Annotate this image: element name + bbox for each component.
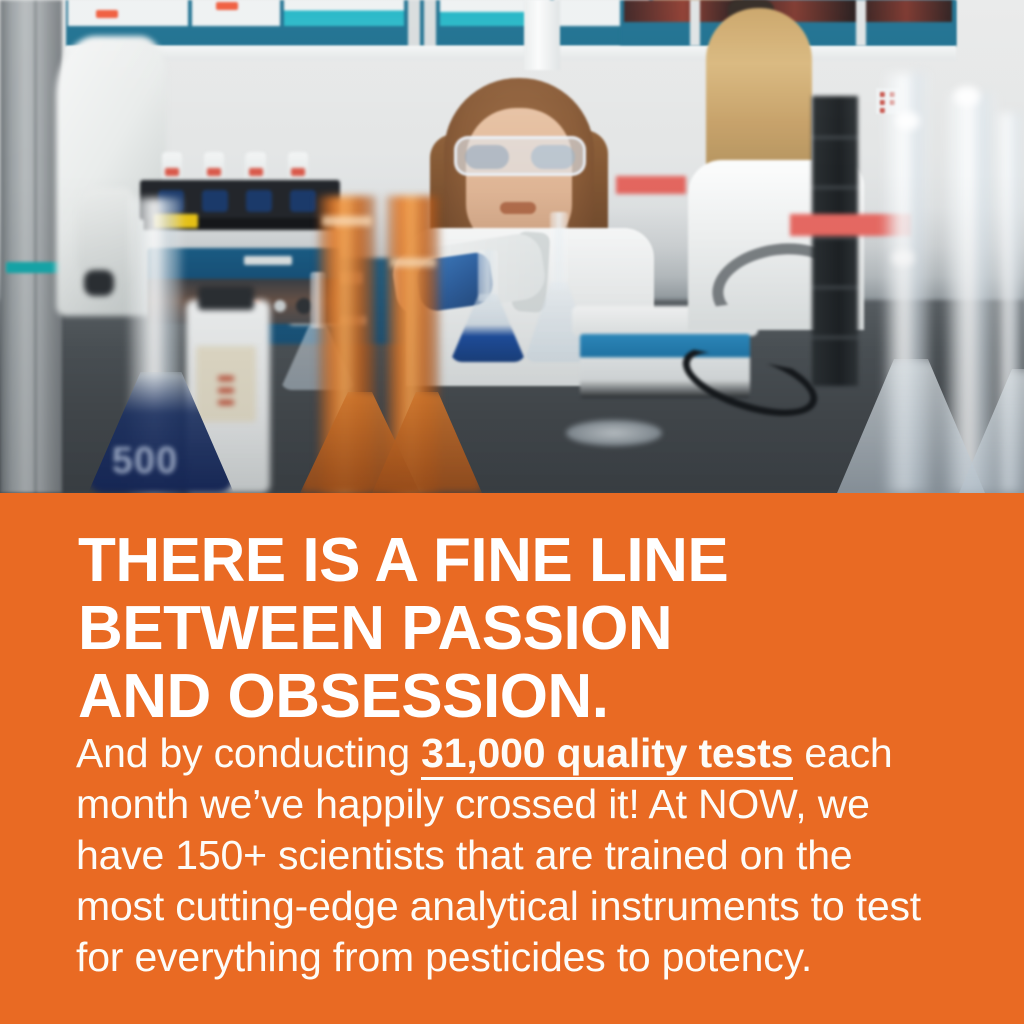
glass-highlight-a bbox=[896, 112, 920, 130]
laboratory-photo: 500 bbox=[0, 0, 1024, 493]
amber-flask-graduation-b bbox=[390, 258, 436, 267]
safety-goggles bbox=[454, 136, 586, 176]
dark-instrument-column bbox=[812, 96, 858, 386]
lab-support-post bbox=[0, 0, 62, 493]
reagent-bottle-label bbox=[196, 346, 256, 422]
blue-liquid-flask bbox=[448, 250, 528, 362]
quality-tests-stat: 31,000 quality tests bbox=[421, 730, 793, 780]
cabinet-divider-column bbox=[524, 0, 560, 70]
headline: THERE IS A FINE LINE BETWEEN PASSION AND… bbox=[78, 527, 958, 731]
body-text-before-emphasis: And by conducting bbox=[76, 730, 421, 776]
reagent-bottle-cap bbox=[198, 286, 254, 310]
headline-line-1: THERE IS A FINE LINE bbox=[78, 527, 958, 595]
flask-volume-label: 500 bbox=[90, 440, 200, 483]
amber-flask-graduation-a bbox=[322, 216, 372, 226]
headline-line-3: AND OBSESSION. bbox=[78, 663, 958, 731]
promo-card-canvas: 500 THERE IS A FINE LINE BETWEEN PASSION… bbox=[0, 0, 1024, 1024]
watch-glass-dish bbox=[566, 420, 662, 446]
glass-highlight-b bbox=[954, 86, 980, 106]
body-paragraph: And by conducting 31,000 quality tests e… bbox=[76, 728, 946, 983]
glass-highlight-c bbox=[892, 250, 914, 266]
red-shelf-items-secondary bbox=[616, 176, 686, 194]
background-scientist-left-hand bbox=[84, 270, 114, 296]
headline-line-2: BETWEEN PASSION bbox=[78, 595, 958, 663]
